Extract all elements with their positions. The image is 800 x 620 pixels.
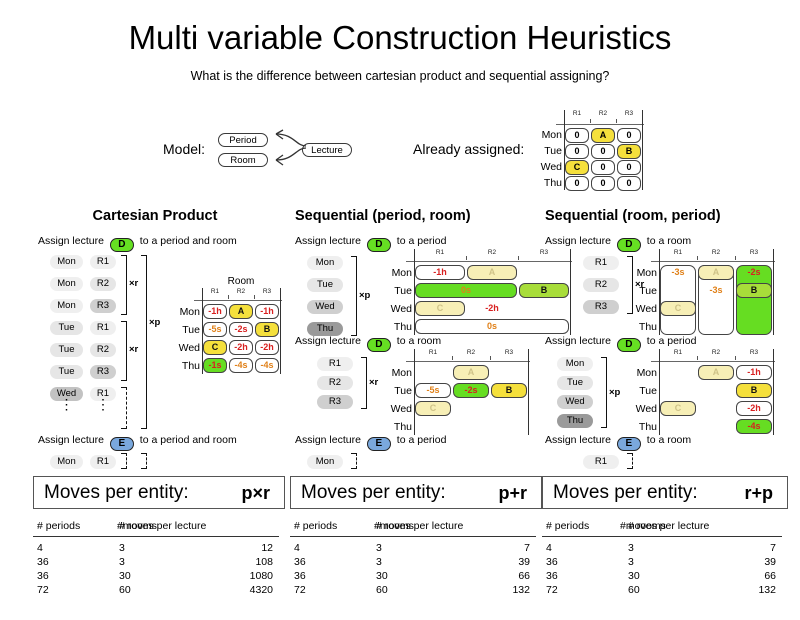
mult-r-1: ×r [129, 278, 138, 289]
grid-cell: B [519, 283, 569, 298]
room-pill-e: R1 [90, 455, 116, 469]
grid-cell: 0 [591, 144, 615, 159]
period-pill: Tue [50, 321, 83, 335]
list2-pill: Thu [557, 414, 593, 428]
list2-pill: R3 [317, 395, 353, 409]
stats-header: # periods [546, 520, 589, 532]
col-header-R2: R2 [697, 249, 735, 256]
vertical-dots-period: ⋮ [50, 402, 83, 407]
stats-cell-moves: 7 [290, 542, 530, 554]
grid-cell: 0s [415, 283, 517, 298]
stats-header: # periods [37, 520, 80, 532]
grid-cell: -4s [736, 419, 772, 434]
grid-cell: -5s [415, 383, 451, 398]
col-header-R3: R3 [254, 288, 280, 295]
grid-cell: A [229, 304, 253, 319]
row-header-Tue: Tue [380, 382, 412, 400]
room-pill: R3 [90, 365, 116, 379]
col-header-R3: R3 [616, 110, 642, 117]
brace-list2 [361, 357, 367, 409]
stats-cell-moves: 108 [33, 556, 273, 568]
grid-cell: 0 [565, 128, 589, 143]
moves-formula: p+r [498, 483, 527, 504]
mult-r-2: ×r [129, 344, 138, 355]
assign-suffix: to a period and room [137, 235, 237, 247]
list2-pill: R2 [317, 376, 353, 390]
grid-cell: -1h [736, 365, 772, 380]
grid-vline [697, 349, 698, 435]
period-pill: Tue [50, 365, 83, 379]
grid-vline [773, 249, 774, 335]
assign-prefix: Assign lecture [545, 434, 614, 446]
period-pill: Mon [50, 299, 83, 313]
col-header-R2: R2 [466, 249, 518, 256]
assign-prefix: Assign lecture [295, 335, 364, 347]
brace-e-inner [121, 453, 127, 469]
period-pill: Mon [50, 277, 83, 291]
list1-pill: R1 [583, 256, 619, 270]
grid-cell: 0s [415, 319, 569, 334]
col-header-R2: R2 [228, 288, 254, 295]
stats-rule [290, 536, 536, 537]
grid-cell: 0 [591, 176, 615, 191]
mult-list2: ×r [369, 377, 378, 388]
stats-cell-moves: 1080 [33, 570, 273, 582]
grid-cell: B [736, 283, 772, 298]
moves-formula: r+p [744, 483, 773, 504]
stats-cell-moves: 66 [290, 570, 530, 582]
grid-tick [518, 256, 519, 260]
col-header-R2: R2 [452, 349, 490, 356]
stats-header: #moves per lecture [117, 520, 206, 532]
page-title: Multi variable Construction Heuristics [0, 20, 800, 56]
moves-label: Moves per entity: [44, 482, 189, 504]
list1-pill: Thu [307, 322, 343, 336]
assign-suffix: to a room [644, 235, 691, 247]
assign-prefix: Assign lecture [38, 235, 107, 247]
mult-list2: ×p [609, 387, 620, 398]
room-pill: R1 [90, 255, 116, 269]
list1-pill: Wed [307, 300, 343, 314]
stats-cell-moves: 66 [542, 570, 776, 582]
col-header-R2: R2 [590, 110, 616, 117]
col-header-R1: R1 [414, 349, 452, 356]
row-header-Mon: Mon [625, 264, 657, 282]
assign-prefix: Assign lecture [295, 434, 364, 446]
moves-box-2: Moves per entity:p+r [290, 476, 542, 509]
lecture-pill-D[interactable]: D [110, 238, 134, 252]
row-header-Thu: Thu [172, 357, 200, 375]
stats-cell-moves: 4320 [33, 584, 273, 596]
brace-outer [141, 255, 147, 429]
grid-cell: C [660, 401, 696, 416]
brace-e-col2 [351, 453, 357, 469]
room-pill: R2 [90, 343, 116, 357]
col-header-R2: R2 [697, 349, 735, 356]
row-header-Thu: Thu [538, 175, 562, 191]
grid-cell-text: -3s [660, 265, 696, 280]
row-header-Tue: Tue [538, 143, 562, 159]
brace-inner [121, 255, 127, 315]
grid-tick [490, 356, 491, 360]
list2-pill: Tue [557, 376, 593, 390]
room-pill: R1 [90, 321, 116, 335]
period-pill-e: Mon [50, 455, 83, 469]
grid-cell: -1s [203, 358, 227, 373]
grid-tick [466, 256, 467, 260]
list1-pill: Mon [307, 256, 343, 270]
period-pill: Mon [50, 255, 83, 269]
brace-e-outer [141, 453, 147, 469]
grid-cell: B [255, 322, 279, 337]
assign-prefix: Assign lecture [295, 235, 364, 247]
grid-tick [590, 119, 591, 123]
mult-p: ×p [149, 317, 160, 328]
model-arrows-icon [260, 128, 320, 178]
col-header-R1: R1 [414, 249, 466, 256]
page-subtitle: What is the difference between cartesian… [0, 69, 800, 83]
room-pill: R3 [90, 299, 116, 313]
grid-cell: -2s [453, 383, 489, 398]
grid-cell: -1h [415, 265, 465, 280]
grid-vline [570, 249, 571, 335]
list1-pill: R3 [583, 300, 619, 314]
grid-vline [642, 110, 643, 190]
grid-cell: C [565, 160, 589, 175]
row-header-Mon: Mon [380, 264, 412, 282]
col-header-R3: R3 [490, 349, 528, 356]
grid-cell: C [415, 401, 451, 416]
row-header-Wed: Wed [172, 339, 200, 357]
stats-header: #moves per lecture [620, 520, 709, 532]
col-header-R1: R1 [659, 349, 697, 356]
row-header-Mon: Mon [538, 127, 562, 143]
grid-tick [254, 295, 255, 299]
grid-cell: A [698, 365, 734, 380]
row-header-Mon: Mon [625, 364, 657, 382]
grid-cell: 0 [565, 144, 589, 159]
list2-pill: R1 [317, 357, 353, 371]
grid-tick [735, 256, 736, 260]
grid-cell-text: -3s [698, 283, 734, 298]
grid-tick [228, 295, 229, 299]
grid-tick [616, 119, 617, 123]
grid-top-rule [406, 361, 530, 362]
row-header-Tue: Tue [380, 282, 412, 300]
assign-suffix: to a room [644, 434, 691, 446]
lecture-pill-E[interactable]: E [110, 437, 134, 451]
room-pill: R2 [90, 277, 116, 291]
stats-cell-moves: 132 [542, 584, 776, 596]
grid-cell: A [698, 265, 734, 280]
assign-line-e-col3: Assign lecture E to a room [545, 434, 691, 451]
grid-top-rule [556, 124, 644, 125]
row-header-Thu: Thu [625, 318, 657, 336]
row-header-Wed: Wed [625, 400, 657, 418]
column-title-0: Cartesian Product [40, 208, 270, 224]
col-header-R1: R1 [564, 110, 590, 117]
lecture-pill-D[interactable]: D [367, 338, 391, 352]
stats-header: #moves per lecture [374, 520, 463, 532]
grid-cell: -2h [255, 340, 279, 355]
brace-list1 [351, 256, 357, 336]
row-header-Wed: Wed [380, 400, 412, 418]
row-header-Mon: Mon [380, 364, 412, 382]
assign-line-e-col2: Assign lecture E to a period [295, 434, 446, 451]
grid-vline [659, 349, 660, 435]
assign-suffix: to a period [644, 335, 697, 347]
grid-top-rule [194, 300, 282, 301]
grid-cell: A [453, 365, 489, 380]
stats-cell-moves: 7 [542, 542, 776, 554]
grid-cell: -1h [203, 304, 227, 319]
row-header-Tue: Tue [625, 282, 657, 300]
stats-header: # periods [294, 520, 337, 532]
grid-cell-text: -2s [736, 265, 772, 280]
grid-tick [697, 256, 698, 260]
stats-rule [33, 536, 279, 537]
moves-box-1: Moves per entity:p×r [33, 476, 285, 509]
lecture-pill-D[interactable]: D [617, 238, 641, 252]
grid-tick [452, 356, 453, 360]
list2-pill: Mon [557, 357, 593, 371]
grid-cell: A [591, 128, 615, 143]
grid-cell: -2h [736, 401, 772, 416]
row-header-Wed: Wed [625, 300, 657, 318]
moves-box-3: Moves per entity:r+p [542, 476, 788, 509]
brace-inner-dashed [121, 387, 127, 429]
grid-top-rule [651, 261, 775, 262]
row-header-Wed: Wed [380, 300, 412, 318]
mult-list1: ×p [359, 290, 370, 301]
grid-cell: A [467, 265, 517, 280]
moves-label: Moves per entity: [301, 482, 446, 504]
col-header-R3: R3 [735, 349, 773, 356]
assign-prefix: Assign lecture [545, 335, 614, 347]
grid-cell: 0 [591, 160, 615, 175]
list2-pill: Wed [557, 395, 593, 409]
column-title-1: Sequential (period, room) [295, 208, 530, 224]
list-e-pill: Mon [307, 455, 343, 469]
assign-prefix: Assign lecture [38, 434, 107, 446]
brace-inner [121, 321, 127, 381]
row-header-Mon: Mon [172, 303, 200, 321]
stats-rule [542, 536, 782, 537]
grid-top-rule [651, 361, 775, 362]
grid-cell: -2h [229, 340, 253, 355]
column-title-2: Sequential (room, period) [545, 208, 780, 224]
row-header-Tue: Tue [172, 321, 200, 339]
stats-cell-moves: 39 [290, 556, 530, 568]
lecture-pill-E[interactable]: E [367, 437, 391, 451]
grid-cell: B [736, 383, 772, 398]
col-header-R3: R3 [735, 249, 773, 256]
lecture-pill-E[interactable]: E [617, 437, 641, 451]
assign-line-d-col1: Assign lecture D to a period and room [38, 235, 237, 252]
list1-pill: R2 [583, 278, 619, 292]
moves-label: Moves per entity: [553, 482, 698, 504]
assign-prefix: Assign lecture [545, 235, 614, 247]
grid-cell: -1h [255, 304, 279, 319]
stats-cell-moves: 39 [542, 556, 776, 568]
grid-cell: 0 [617, 128, 641, 143]
list1-pill: Tue [307, 278, 343, 292]
vertical-dots-room: ⋮ [90, 402, 116, 407]
brace-e-col3 [627, 453, 633, 469]
grid-cell: -5s [203, 322, 227, 337]
moves-formula: p×r [241, 483, 270, 504]
grid-cell: B [491, 383, 527, 398]
lecture-pill-D[interactable]: D [617, 338, 641, 352]
grid-cell: -2s [229, 322, 253, 337]
grid-vline [773, 349, 774, 435]
period-pill: Tue [50, 343, 83, 357]
col-header-R1: R1 [202, 288, 228, 295]
grid-tick [735, 356, 736, 360]
grid-cell: C [660, 301, 696, 316]
grid-cell: B [617, 144, 641, 159]
stats-cell-moves: 132 [290, 584, 530, 596]
list-e-pill: R1 [583, 455, 619, 469]
assign-suffix: to a room [394, 335, 441, 347]
grid-cell: C [415, 301, 465, 316]
grid-cell: -4s [229, 358, 253, 373]
row-header-Tue: Tue [625, 382, 657, 400]
assign-suffix: to a period [394, 434, 447, 446]
assign-line-e-col1: Assign lecture E to a period and room [38, 434, 237, 451]
grid-tick [697, 356, 698, 360]
col-header-R1: R1 [659, 249, 697, 256]
grid-cell: 0 [617, 176, 641, 191]
model-label: Model: [163, 141, 205, 157]
row-header-Wed: Wed [538, 159, 562, 175]
grid-vline [528, 349, 529, 435]
row-header-Thu: Thu [380, 318, 412, 336]
brace-list2 [601, 357, 607, 428]
stats-cell-moves: 12 [33, 542, 273, 554]
assign-suffix: to a period and room [137, 434, 237, 446]
grid-cell: C [203, 340, 227, 355]
grid-cell: -4s [255, 358, 279, 373]
assign-suffix: to a period [394, 235, 447, 247]
grid-vline [280, 288, 281, 374]
grid-cell: 0 [617, 160, 641, 175]
grid-cell-text: -2h [467, 301, 517, 316]
grid-caption: Room [202, 276, 280, 287]
lecture-pill-D[interactable]: D [367, 238, 391, 252]
already-assigned-label: Already assigned: [413, 141, 524, 157]
grid-top-rule [406, 261, 572, 262]
grid-cell: 0 [565, 176, 589, 191]
